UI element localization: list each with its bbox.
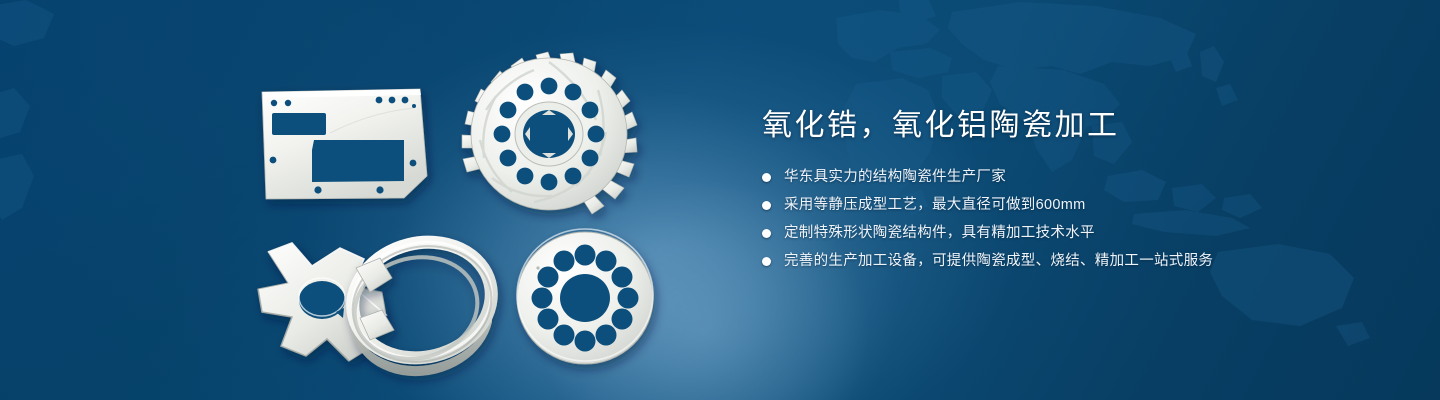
ceramic-perforated-disc xyxy=(517,229,653,364)
bullet-dot-icon xyxy=(762,173,771,182)
list-item: 华东具实力的结构陶瓷件生产厂家 xyxy=(762,166,1382,188)
list-item: 定制特殊形状陶瓷结构件，具有精加工技术水平 xyxy=(762,222,1382,244)
feature-text: 完善的生产加工设备，可提供陶瓷成型、烧结、精加工一站式服务 xyxy=(784,250,1213,272)
ceramic-star-part xyxy=(258,243,386,361)
bullet-dot-icon xyxy=(762,201,771,210)
list-item: 采用等静压成型工艺，最大直径可做到600mm xyxy=(762,194,1382,216)
ceramic-ring-part xyxy=(340,228,503,376)
product-banner: 氧化锆，氧化铝陶瓷加工 华东具实力的结构陶瓷件生产厂家 采用等静压成型工艺，最大… xyxy=(0,0,1440,400)
ceramic-impeller-part xyxy=(462,52,637,214)
bullet-dot-icon xyxy=(762,229,771,238)
feature-text: 华东具实力的结构陶瓷件生产厂家 xyxy=(784,166,1006,188)
banner-text-column: 氧化锆，氧化铝陶瓷加工 华东具实力的结构陶瓷件生产厂家 采用等静压成型工艺，最大… xyxy=(762,104,1382,288)
feature-list: 华东具实力的结构陶瓷件生产厂家 采用等静压成型工艺，最大直径可做到600mm 定… xyxy=(762,166,1382,272)
page-title: 氧化锆，氧化铝陶瓷加工 xyxy=(762,104,1382,148)
list-item: 完善的生产加工设备，可提供陶瓷成型、烧结、精加工一站式服务 xyxy=(762,250,1382,272)
feature-text: 采用等静压成型工艺，最大直径可做到600mm xyxy=(784,194,1085,216)
feature-text: 定制特殊形状陶瓷结构件，具有精加工技术水平 xyxy=(784,222,1095,244)
ceramic-plate-part xyxy=(262,89,427,199)
bullet-dot-icon xyxy=(762,257,771,266)
